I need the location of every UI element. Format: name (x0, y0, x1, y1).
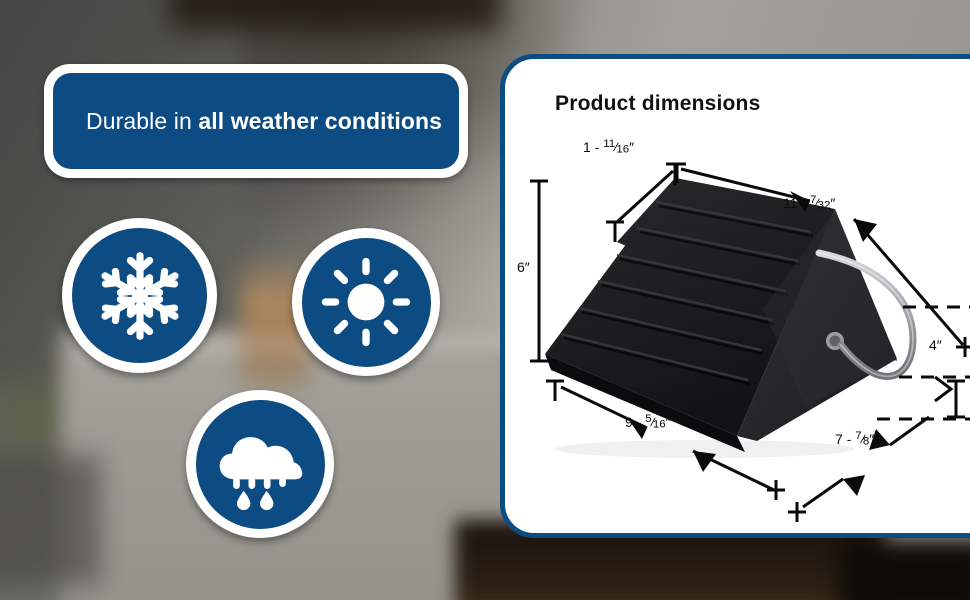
dimension-label-top-width: 1 - 11/16″ (583, 139, 634, 156)
dimension-label-base-width: 7 - 7/8″ (835, 431, 874, 448)
dimension-label-base-length: 9 - 5/16″ (625, 414, 671, 431)
headline-banner-fill: Durable in all weather conditions (53, 73, 459, 169)
dimension-label-top-length: 11 - 7/32″ (783, 195, 835, 212)
headline-banner: Durable in all weather conditions (44, 64, 468, 178)
sun-icon (320, 256, 412, 348)
headline-text-plain: Durable in (86, 108, 198, 134)
product-dimensions-panel: Product dimensions (500, 54, 970, 538)
snowflake-icon (92, 248, 188, 344)
rain-cloud-icon (212, 416, 308, 512)
background-left-shadow (0, 455, 100, 585)
badge-rainy-weather (186, 390, 334, 538)
background-dark-foreground-right (840, 540, 970, 600)
headline-text: Durable in all weather conditions (53, 108, 442, 135)
badge-cold-weather (62, 218, 217, 373)
badge-sunny-weather-fill (302, 238, 431, 367)
background-dark-band (170, 0, 500, 30)
headline-text-bold: all weather conditions (198, 108, 442, 134)
promo-banner-image: Durable in all weather conditions (0, 0, 970, 600)
badge-cold-weather-fill (72, 228, 207, 363)
badge-sunny-weather (292, 228, 440, 376)
product-dimension-diagram (505, 59, 970, 533)
dimension-label-height: 6″ (517, 259, 530, 275)
dimension-label-depth: 4″ (929, 337, 942, 353)
badge-rainy-weather-fill (196, 400, 325, 529)
